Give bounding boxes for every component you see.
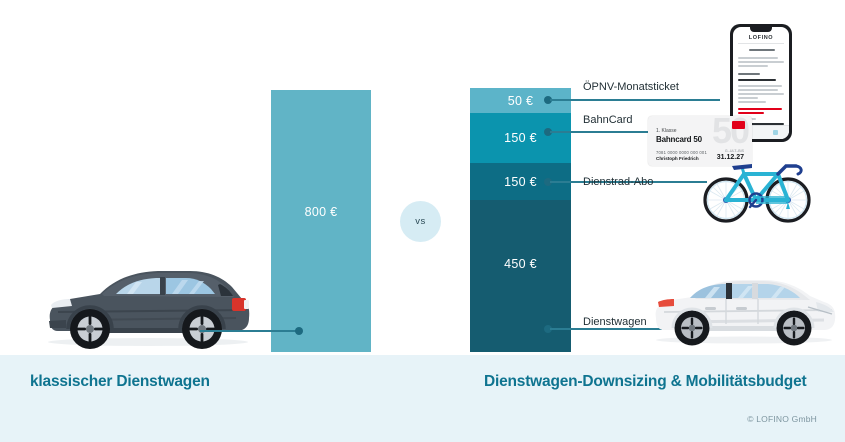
bahncard-logo-mark: [732, 121, 745, 129]
bar-segment-bahncard: 150 €: [470, 113, 571, 163]
bahncard-product-name: Bahncard 50: [656, 135, 702, 144]
label-bahncard: BahnCard: [583, 114, 633, 126]
bahncard-holder: Christoph Friedrich: [656, 156, 699, 161]
bahncard-class: 1. Klasse: [656, 128, 677, 134]
label-oepnv: ÖPNV-Monatsticket: [583, 81, 679, 93]
vs-badge: vs: [400, 201, 441, 242]
bicycle-illustration: [700, 152, 818, 224]
bar-left-value: 800 €: [271, 205, 371, 219]
footer-band: [0, 355, 845, 442]
bar-klassischer-dienstwagen: 800 €: [271, 90, 371, 352]
connector-dot-dienstwagen-left: [295, 327, 303, 335]
connector-line-dienstwagen-left: [200, 330, 299, 332]
lofino-logo: LOFINO: [733, 35, 789, 41]
bar-segment-dienstrad-value: 150 €: [504, 175, 537, 189]
suv-illustration: [36, 258, 256, 354]
bar-segment-bahncard-value: 150 €: [504, 131, 537, 145]
bar-segment-oepnv-value: 50 €: [508, 94, 534, 108]
hatchback-illustration: [648, 262, 840, 350]
footer-title-right: Dienstwagen-Downsizing & Mobilitätsbudge…: [484, 373, 806, 391]
label-dienstwagen-right: Dienstwagen: [583, 316, 647, 328]
copyright-notice: © LOFINO GmbH: [747, 414, 817, 424]
infographic-canvas: 800 € vs 50 € 150 € 150 € 450 € ÖPNV-Mon…: [0, 0, 845, 442]
phone-divider: [738, 43, 784, 44]
phone-tab-icon-profile: [773, 130, 778, 135]
connector-line-oepnv: [550, 99, 720, 101]
footer-title-left: klassischer Dienstwagen: [30, 373, 210, 391]
label-dienstrad: Dienstrad-Abo: [583, 176, 653, 188]
connector-line-dienstwagen-right: [550, 328, 662, 330]
bar-mobilitaetsbudget: 50 € 150 € 150 € 450 €: [470, 88, 571, 352]
bar-segment-dienstwagen-value: 450 €: [504, 257, 537, 271]
vs-badge-label: vs: [415, 216, 426, 227]
phone-notch: [750, 27, 772, 32]
